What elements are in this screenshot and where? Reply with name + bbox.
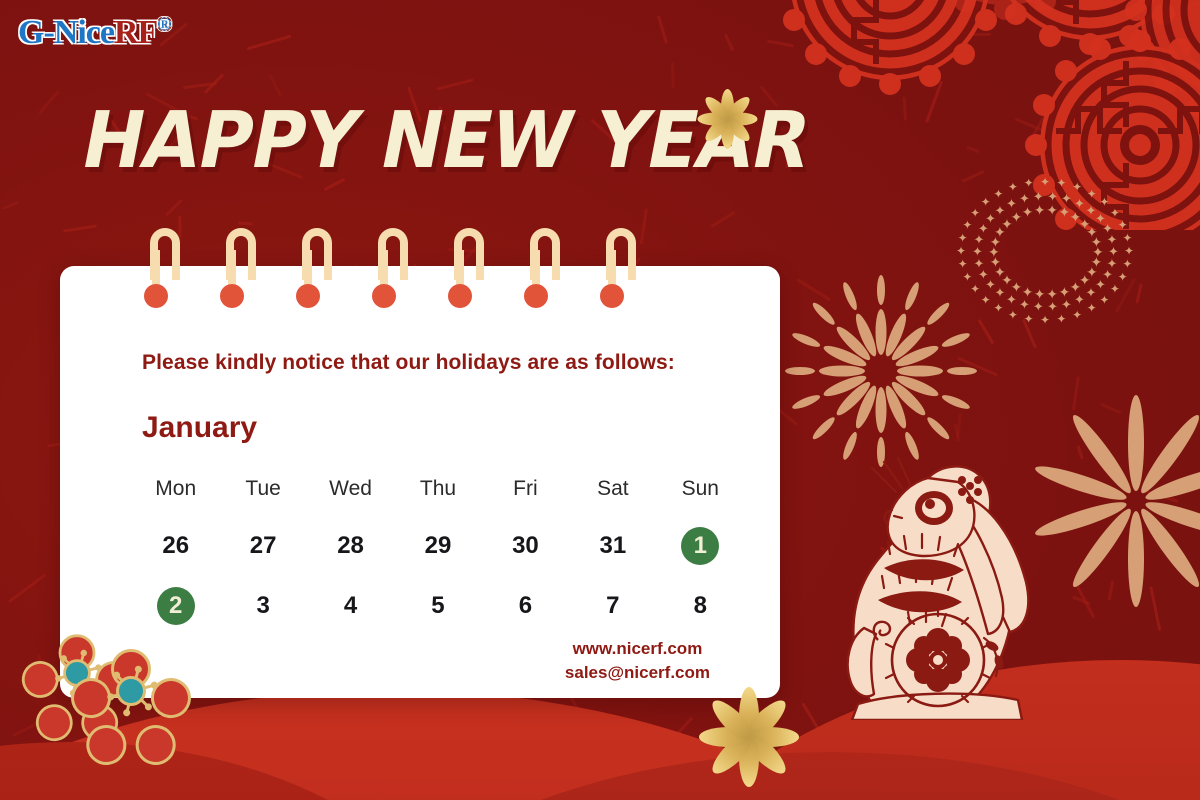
texture-dash [671,63,675,89]
website-link[interactable]: www.nicerf.com [565,637,710,662]
star-icon: ✦ [981,294,991,306]
star-icon: ✦ [1099,294,1109,306]
blossom-center [116,676,146,706]
texture-dash [37,90,59,114]
firework-ray [791,331,822,350]
calendar-day: 7 [594,587,632,625]
calendar-cell: 3 [219,580,306,632]
plum-blossom-flower-icon [130,690,132,692]
firework-ray [1128,395,1144,491]
calendar-binder-ring [378,228,408,306]
star-ring-firework-icon: ✦✦✦✦✦✦✦✦✦✦✦✦✦✦✦✦✦✦✦✦✦✦✦✦✦✦✦✦✦✦✦✦✦✦✦✦✦✦✦✦… [1040,245,1042,247]
registered-trademark-icon: ® [157,15,170,36]
texture-dash [1076,445,1083,460]
firework-ray [940,393,971,412]
firework-ray [940,331,971,350]
calendar-weekday-header: Mon [132,466,219,512]
calendar-weekday-header: Fri [482,466,569,512]
texture-dash [1150,586,1162,630]
star-icon: ✦ [1087,302,1097,314]
star-icon: ✦ [1024,313,1034,325]
star-icon: ✦ [1074,197,1085,210]
email-link[interactable]: sales@nicerf.com [565,661,710,686]
calendar-cell: 4 [307,580,394,632]
calendar-weekday-header: Sun [657,466,744,512]
star-icon: ✦ [995,204,1006,217]
calendar-cell: 27 [219,520,306,572]
star-icon: ✦ [970,283,980,295]
star-icon: ✦ [1047,190,1058,203]
calendar-weekday-header: Thu [394,466,481,512]
firework-ray [791,393,822,412]
star-icon: ✦ [1008,181,1018,193]
star-icon: ✦ [1058,205,1070,219]
texture-dash [165,198,183,216]
logo-text-blue: G-Nice [18,14,114,51]
calendar-day: 5 [419,587,457,625]
star-icon: ✦ [1110,207,1120,219]
texture-dash [238,222,254,226]
gold-starburst-flower-icon [748,736,750,738]
star-icon: ✦ [956,245,966,257]
star-icon: ✦ [1056,177,1066,189]
star-icon: ✦ [993,302,1003,314]
calendar-day: 30 [506,527,544,565]
texture-dash [978,319,995,344]
texture-dash [657,16,668,45]
star-icon: ✦ [1061,192,1072,205]
calendar-day: 26 [157,527,195,565]
star-icon: ✦ [1033,300,1044,313]
star-icon: ✦ [1110,283,1120,295]
texture-dash [1101,403,1122,414]
calendar-day: 31 [594,527,632,565]
star-icon: ✦ [1033,190,1044,203]
calendar-cell: 28 [307,520,394,572]
star-icon: ✦ [1061,298,1072,311]
firework-ray [819,366,865,377]
calendar-binder-ring [530,228,560,306]
calendar-cell: 6 [482,580,569,632]
calendar-day-highlighted: 2 [157,587,195,625]
page-title: HAPPY NEW YEAR [75,96,818,186]
firework-burst-icon [1135,500,1137,502]
texture-dash [1071,376,1079,410]
star-icon: ✦ [1099,196,1109,208]
calendar-binder-ring [150,228,180,306]
star-icon: ✦ [1072,181,1082,193]
calendar-day: 8 [681,587,719,625]
calendar-day-highlighted: 1 [681,527,719,565]
firework-ray [876,387,887,433]
calendar-cell: 7 [569,580,656,632]
star-icon: ✦ [1006,293,1017,306]
calendar-day: 27 [244,527,282,565]
star-icon: ✦ [1034,203,1046,217]
star-icon: ✦ [1024,177,1034,189]
star-icon: ✦ [1122,258,1132,270]
holiday-notice-text: Please kindly notice that our holidays a… [142,351,675,375]
star-icon: ✦ [1056,313,1066,325]
calendar-day: 3 [244,587,282,625]
texture-dash [797,278,831,301]
calendar-cell: 1 [657,520,744,572]
firework-ray [877,275,885,305]
calendar-weekday-header: Tue [219,466,306,512]
firework-ray [841,281,860,312]
calendar-binder-ring [226,228,256,306]
texture-dash [2,201,19,210]
star-icon: ✦ [962,271,972,283]
firework-burst-icon [880,370,882,372]
star-icon: ✦ [995,286,1006,299]
gold-starburst-flower-icon [726,118,728,120]
star-icon: ✦ [1074,293,1085,306]
poster-canvas: ✦✦✦✦✦✦✦✦✦✦✦✦✦✦✦✦✦✦✦✦✦✦✦✦✦✦✦✦✦✦✦✦✦✦✦✦✦✦✦✦… [0,0,1200,800]
calendar-binder-ring [606,228,636,306]
calendar-grid: MonTueWedThuFriSatSun2627282930311234567… [132,466,744,632]
star-icon: ✦ [1022,205,1034,219]
star-icon: ✦ [1019,298,1030,311]
star-icon: ✦ [1040,176,1050,188]
holiday-calendar-card: Please kindly notice that our holidays a… [60,266,780,698]
firework-ray [903,281,922,312]
calendar-day: 6 [506,587,544,625]
calendar-cell: 5 [394,580,481,632]
texture-dash [436,79,473,91]
star-icon: ✦ [1086,286,1097,299]
star-icon: ✦ [1072,309,1082,321]
calendar-cell: 31 [569,520,656,572]
firework-ray [785,367,815,375]
zodiac-rabbit-papercut-icon [812,432,1042,720]
contact-info: www.nicerf.com sales@nicerf.com [565,637,710,686]
star-icon: ✦ [1087,188,1097,200]
calendar-day: 4 [332,587,370,625]
texture-dash [8,574,46,604]
star-icon: ✦ [1122,232,1132,244]
star-icon: ✦ [1118,219,1128,231]
texture-dash [268,74,282,97]
firework-ray [1128,511,1144,607]
star-icon: ✦ [1124,245,1134,257]
firework-ray [810,300,837,327]
texture-dash [710,211,735,228]
texture-dash [63,225,97,233]
texture-dash [1107,580,1114,600]
texture-dash [724,33,735,51]
calendar-month-label: January [142,411,257,445]
calendar-binder-ring [302,228,332,306]
star-icon: ✦ [962,219,972,231]
star-icon: ✦ [1019,192,1030,205]
star-icon: ✦ [1046,203,1058,217]
plum-blossom-flower-icon [76,672,78,674]
texture-dash [246,35,291,51]
texture-dash [639,209,647,245]
star-icon: ✦ [1090,235,1102,249]
star-icon: ✦ [958,232,968,244]
calendar-binder-ring [454,228,484,306]
firework-ray [947,367,977,375]
calendar-cell: 2 [132,580,219,632]
star-icon: ✦ [1008,309,1018,321]
star-icon: ✦ [1040,314,1050,326]
calendar-cell: 26 [132,520,219,572]
firework-ray [925,300,952,327]
star-icon: ✦ [981,196,991,208]
star-icon: ✦ [958,258,968,270]
firework-ray [897,366,943,377]
star-icon: ✦ [1006,197,1017,210]
star-icon: ✦ [993,188,1003,200]
star-icon: ✦ [970,207,980,219]
star-icon: ✦ [1095,278,1106,291]
texture-dash [1135,284,1142,304]
calendar-cell: 8 [657,580,744,632]
calendar-weekday-header: Sat [569,466,656,512]
calendar-weekday-header: Wed [307,466,394,512]
calendar-cell: 29 [394,520,481,572]
logo-text-red: RF [114,14,157,51]
star-icon: ✦ [1010,210,1022,224]
star-icon: ✦ [1107,233,1118,246]
calendar-day: 29 [419,527,457,565]
calendar-day: 28 [332,527,370,565]
brand-logo[interactable]: G-NiceRF® [18,14,170,52]
calendar-cell: 30 [482,520,569,572]
